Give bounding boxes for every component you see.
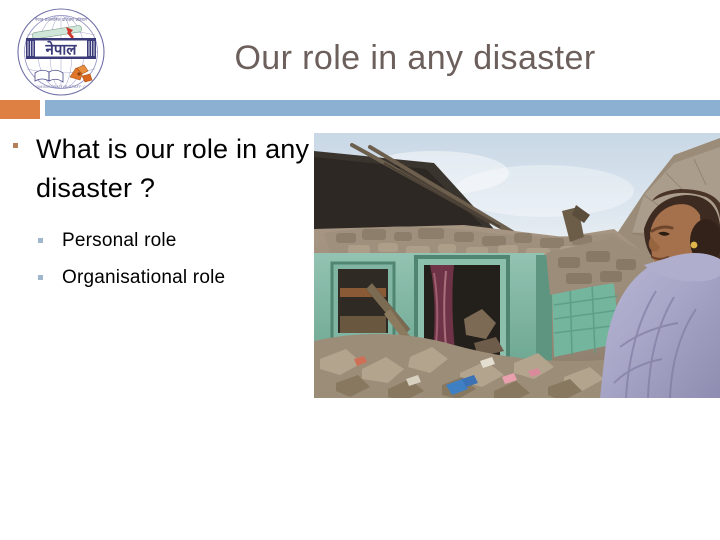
bullet-text: Personal role (62, 226, 320, 255)
bullet-marker-icon (38, 238, 43, 243)
svg-text:नेपाल: नेपाल (45, 41, 78, 59)
title-accent-block (0, 100, 40, 119)
list-spacer (0, 218, 320, 226)
bullet-marker-icon (38, 275, 43, 280)
list-item: What is our role in any disaster ? (0, 130, 320, 208)
list-item: Personal role (0, 226, 320, 255)
slide-canvas: नेपाल प्रशासनिक प्रशिक्षण प्रतिष्ठान NEP… (0, 0, 720, 540)
page-title: Our role in any disaster (120, 36, 710, 80)
svg-text:नेपाल प्रशासनिक प्रशिक्षण प्रत: नेपाल प्रशासनिक प्रशिक्षण प्रतिष्ठान (35, 17, 88, 22)
title-underline-bar (45, 100, 720, 116)
bullet-marker-icon (13, 143, 18, 148)
list-item: Organisational role (0, 263, 320, 292)
bullet-text: What is our role in any disaster ? (36, 130, 320, 208)
organisation-logo: नेपाल प्रशासनिक प्रशिक्षण प्रतिष्ठान NEP… (8, 5, 114, 99)
bullet-list: What is our role in any disaster ? Perso… (0, 130, 320, 300)
svg-text:NEPAL ADMINISTRATIVE STAFF COL: NEPAL ADMINISTRATIVE STAFF COLLEGE (20, 85, 103, 89)
bullet-text: Organisational role (62, 263, 320, 292)
disaster-damage-photo (314, 133, 720, 398)
